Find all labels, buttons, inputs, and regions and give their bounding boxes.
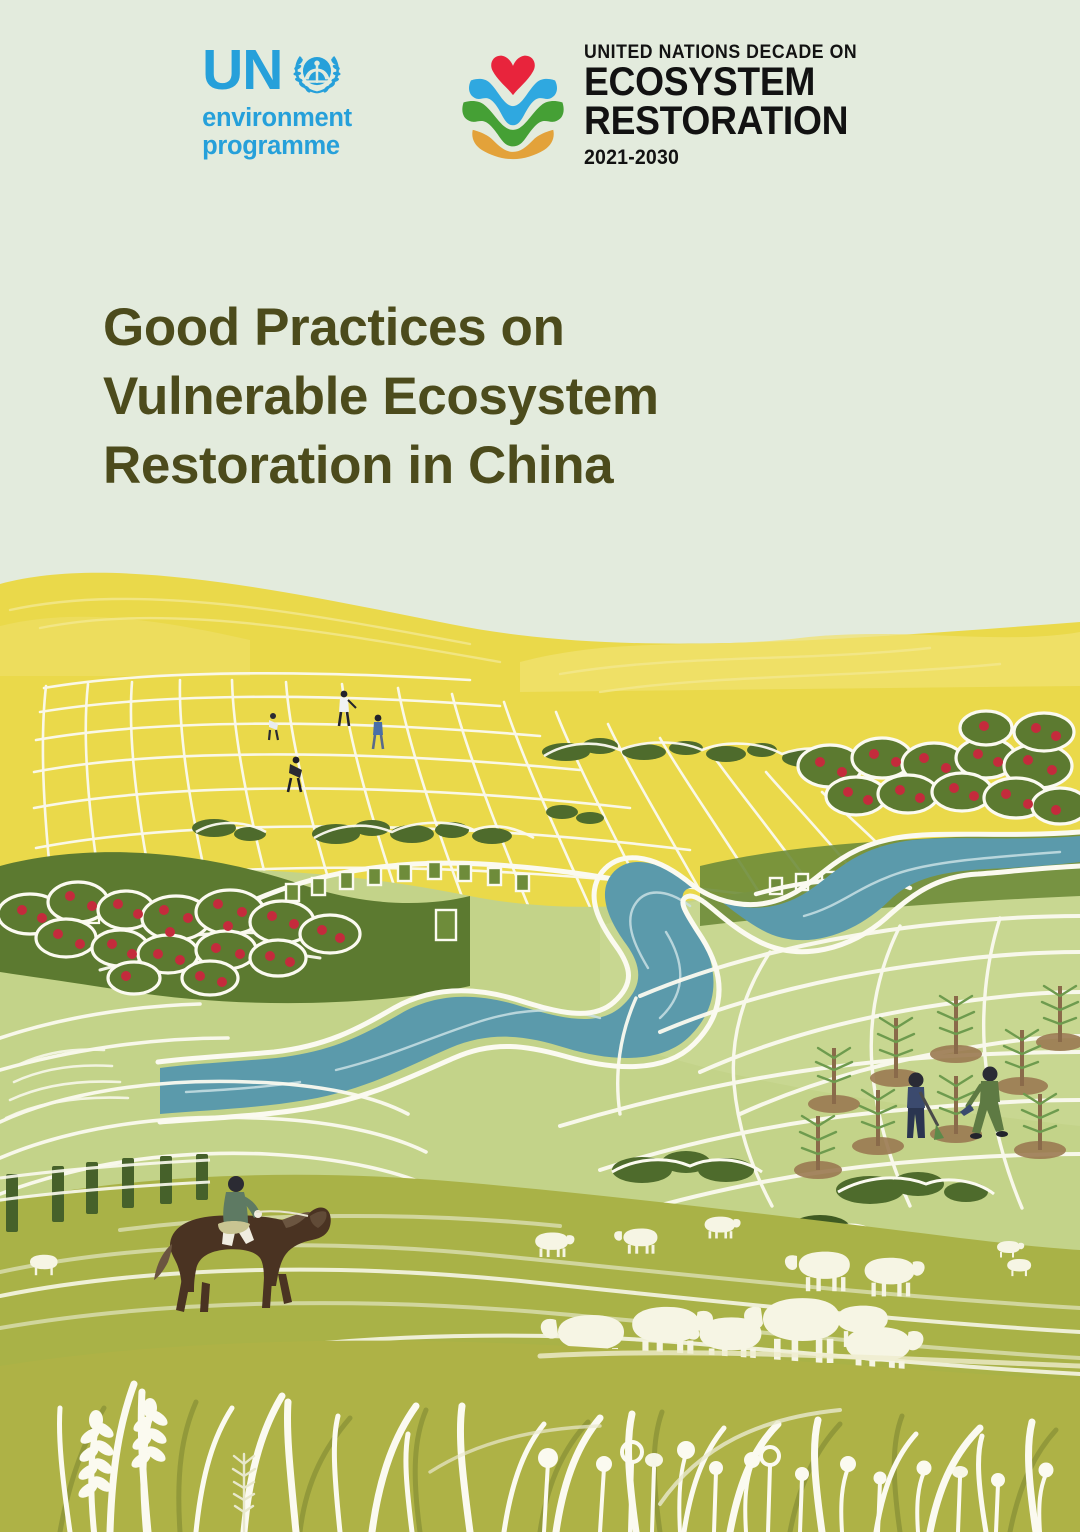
decade-logo-text: UNITED NATIONS DECADE ON ECOSYSTEM RESTO… <box>584 42 878 171</box>
china-ecosystem-restoration-landscape-illustration <box>0 566 1080 1532</box>
unep-logo-subtitle: environment programme <box>202 105 402 160</box>
decade-line-years: 2021-2030 <box>584 144 857 171</box>
logo-bar: UN <box>0 38 1080 168</box>
unep-un-text: UN <box>202 47 282 94</box>
un-emblem-icon <box>291 44 343 96</box>
unep-line-environment: environment <box>202 105 402 133</box>
cover-page: UN <box>0 0 1080 1532</box>
unep-line-programme: programme <box>202 133 402 161</box>
decade-heart-waves-icon <box>458 53 568 161</box>
unep-logo-top-row: UN <box>202 44 402 96</box>
title-line-3: Restoration in China <box>103 432 863 501</box>
landscape-scene-svg <box>0 566 1080 1532</box>
un-environment-programme-logo: UN <box>202 38 402 160</box>
page-title: Good Practices on Vulnerable Ecosystem R… <box>103 294 863 501</box>
title-line-2: Vulnerable Ecosystem <box>103 363 863 432</box>
un-decade-ecosystem-restoration-logo: UNITED NATIONS DECADE ON ECOSYSTEM RESTO… <box>458 38 878 171</box>
title-line-1: Good Practices on <box>103 294 863 363</box>
decade-line-ecosystem: ECOSYSTEM <box>584 63 857 102</box>
decade-line-restoration: RESTORATION <box>584 102 857 141</box>
